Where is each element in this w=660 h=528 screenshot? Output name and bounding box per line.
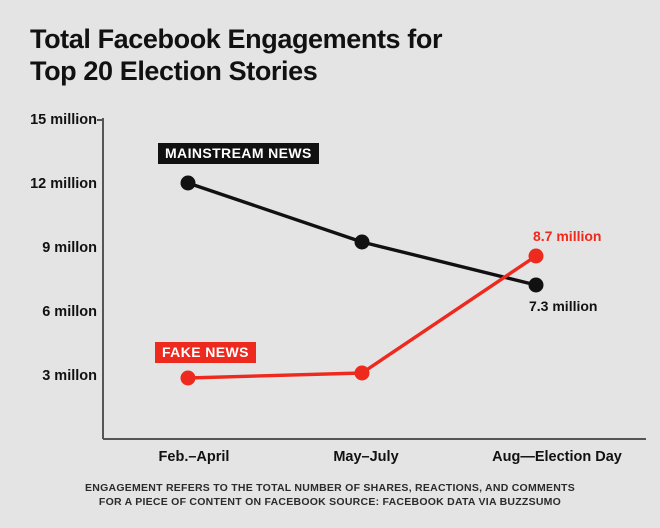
y-axis-label-15: 15 million [2, 112, 97, 128]
y-axis-label-6: 6 millon [2, 304, 97, 320]
y-axis-label-12: 12 million [2, 176, 97, 192]
source-note-line-1: ENGAGEMENT REFERS TO THE TOTAL NUMBER OF… [0, 481, 660, 495]
value-label-fake-news-final: 8.7 million [533, 228, 601, 244]
data-point-fake-may-july [355, 366, 370, 381]
value-label-mainstream-news-final: 7.3 million [529, 298, 597, 314]
data-point-mainstream-may-july [355, 235, 370, 250]
data-point-fake-feb-april [181, 371, 196, 386]
data-point-mainstream-aug-election-day [529, 278, 544, 293]
y-axis-label-3: 3 millon [2, 368, 97, 384]
y-axis-labels: 15 million 12 million 9 millon 6 millon … [0, 0, 97, 528]
source-note-line-2: FOR A PIECE OF CONTENT ON FACEBOOK SOURC… [0, 495, 660, 509]
x-axis-label-may-july: May–July [333, 449, 398, 465]
y-axis-label-9: 9 millon [2, 240, 97, 256]
x-axis-label-feb-april: Feb.–April [159, 449, 230, 465]
chart-source-note: ENGAGEMENT REFERS TO THE TOTAL NUMBER OF… [0, 481, 660, 509]
x-axis-label-aug-election-day: Aug—Election Day [492, 449, 622, 465]
line-chart: 15 million 12 million 9 millon 6 millon … [0, 0, 660, 528]
series-line-mainstream-news [188, 183, 536, 285]
data-point-mainstream-feb-april [181, 176, 196, 191]
data-point-fake-aug-election-day [529, 249, 544, 264]
legend-badge-mainstream-news: MAINSTREAM NEWS [158, 143, 319, 164]
legend-badge-fake-news: FAKE NEWS [155, 342, 256, 363]
